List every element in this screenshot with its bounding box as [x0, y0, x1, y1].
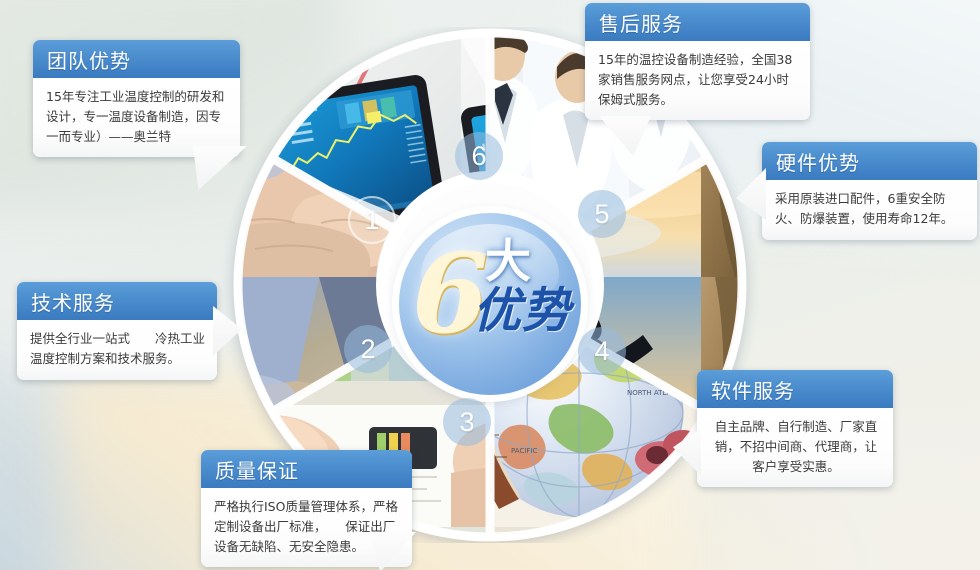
- callout-title-hardware: 硬件优势: [776, 147, 860, 176]
- callout-title-tech: 技术服务: [31, 287, 115, 316]
- segment-number-1[interactable]: 1: [348, 196, 396, 244]
- callout-body-tech: 提供全行业一站式 冷热工业温度控制方案和技术服务。: [17, 320, 217, 380]
- callout-header-software: 软件服务: [697, 370, 893, 408]
- callout-card-after-sales[interactable]: 售后服务 15年的温控设备制造经验，全国38家销售服务网点，让您享受24小时保姆…: [585, 3, 810, 120]
- callout-card-team[interactable]: 团队优势 15年专注工业温度控制的研发和设计，专一温度设备制造，因专一而专业）—…: [33, 40, 240, 157]
- center-emblem: 6 大 优势: [399, 213, 581, 395]
- callout-body-team: 15年专注工业温度控制的研发和设计，专一温度设备制造，因专一而专业）——奥兰特: [33, 78, 240, 157]
- callout-header-after-sales: 售后服务: [585, 3, 810, 41]
- callout-title-quality: 质量保证: [215, 455, 299, 484]
- callout-header-team: 团队优势: [33, 40, 240, 78]
- segment-number-2[interactable]: 2: [344, 325, 392, 373]
- callout-header-hardware: 硬件优势: [762, 142, 977, 180]
- callout-title-after-sales: 售后服务: [599, 8, 683, 37]
- segment-number-3[interactable]: 3: [443, 398, 491, 446]
- callout-body-software: 自主品牌、自行制造、厂家直销，不招中间商、代理商，让客户享受实惠。: [697, 408, 893, 487]
- callout-header-quality: 质量保证: [201, 450, 412, 488]
- callout-card-tech[interactable]: 技术服务 提供全行业一站式 冷热工业温度控制方案和技术服务。: [17, 282, 217, 380]
- callout-card-software[interactable]: 软件服务 自主品牌、自行制造、厂家直销，不招中间商、代理商，让客户享受实惠。: [697, 370, 893, 487]
- segment-number-4[interactable]: 4: [578, 327, 626, 375]
- callout-title-team: 团队优势: [47, 45, 131, 74]
- callout-body-hardware: 采用原装进口配件，6重安全防火、防爆装置，使用寿命12年。: [762, 180, 977, 240]
- infographic-canvas: INTC 440.95: [0, 0, 980, 570]
- segment-number-5[interactable]: 5: [578, 190, 626, 238]
- segment-number-6[interactable]: 6: [455, 132, 503, 180]
- callout-body-after-sales: 15年的温控设备制造经验，全国38家销售服务网点，让您享受24小时保姆式服务。: [585, 41, 810, 120]
- emblem-youshi-text: 优势: [473, 287, 571, 337]
- emblem-da-text: 大: [485, 238, 531, 284]
- callout-card-quality[interactable]: 质量保证 严格执行ISO质量管理体系，严格定制设备出厂标准， 保证出厂设备无缺陷…: [201, 450, 412, 567]
- callout-card-hardware[interactable]: 硬件优势 采用原装进口配件，6重安全防火、防爆装置，使用寿命12年。: [762, 142, 977, 240]
- callout-title-software: 软件服务: [711, 375, 795, 404]
- callout-header-tech: 技术服务: [17, 282, 217, 320]
